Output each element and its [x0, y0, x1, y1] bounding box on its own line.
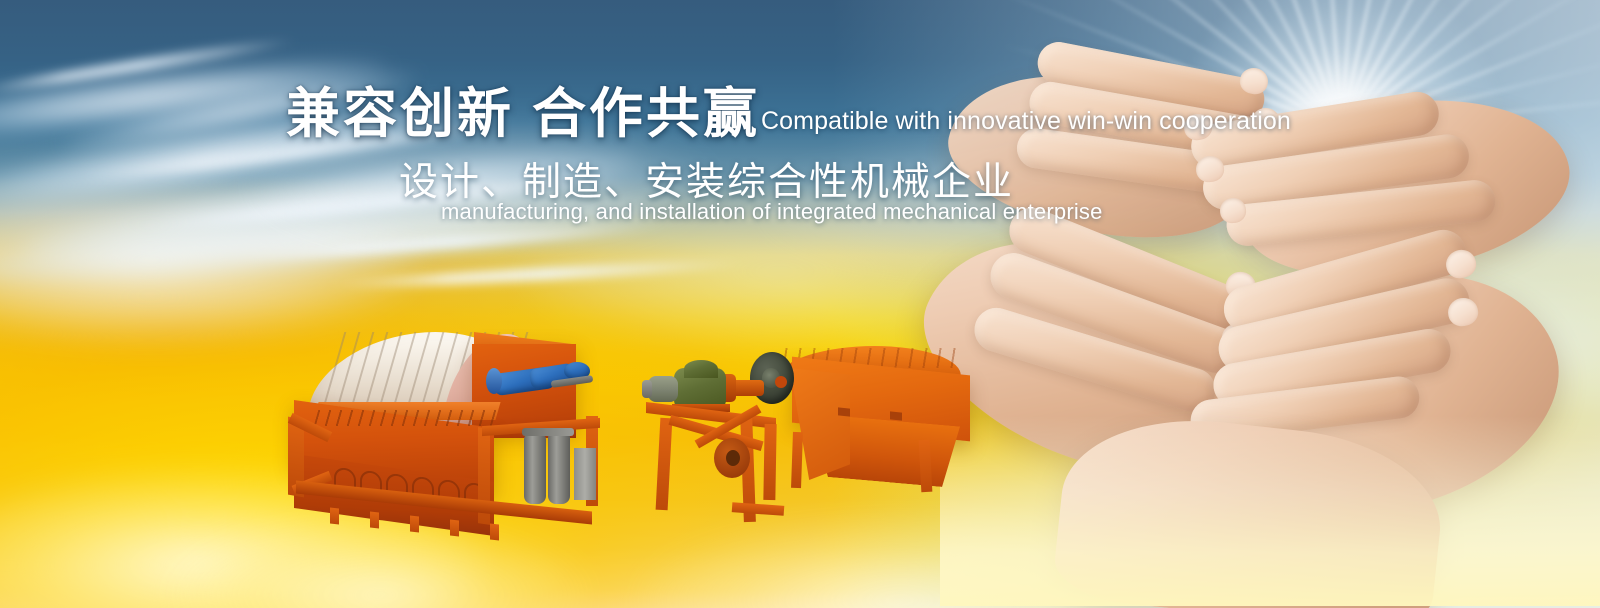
ceramic-vacuum-filter-icon — [286, 318, 626, 548]
magnetic-separator-icon — [632, 332, 972, 532]
banner-subline-en: manufacturing, and installation of integ… — [441, 199, 1103, 225]
hero-banner: 兼容创新 合作共赢 Compatible with innovative win… — [0, 0, 1600, 608]
banner-headline-en: Compatible with innovative win-win coope… — [761, 107, 1291, 136]
banner-headline-cn: 兼容创新 合作共赢 — [286, 69, 760, 148]
